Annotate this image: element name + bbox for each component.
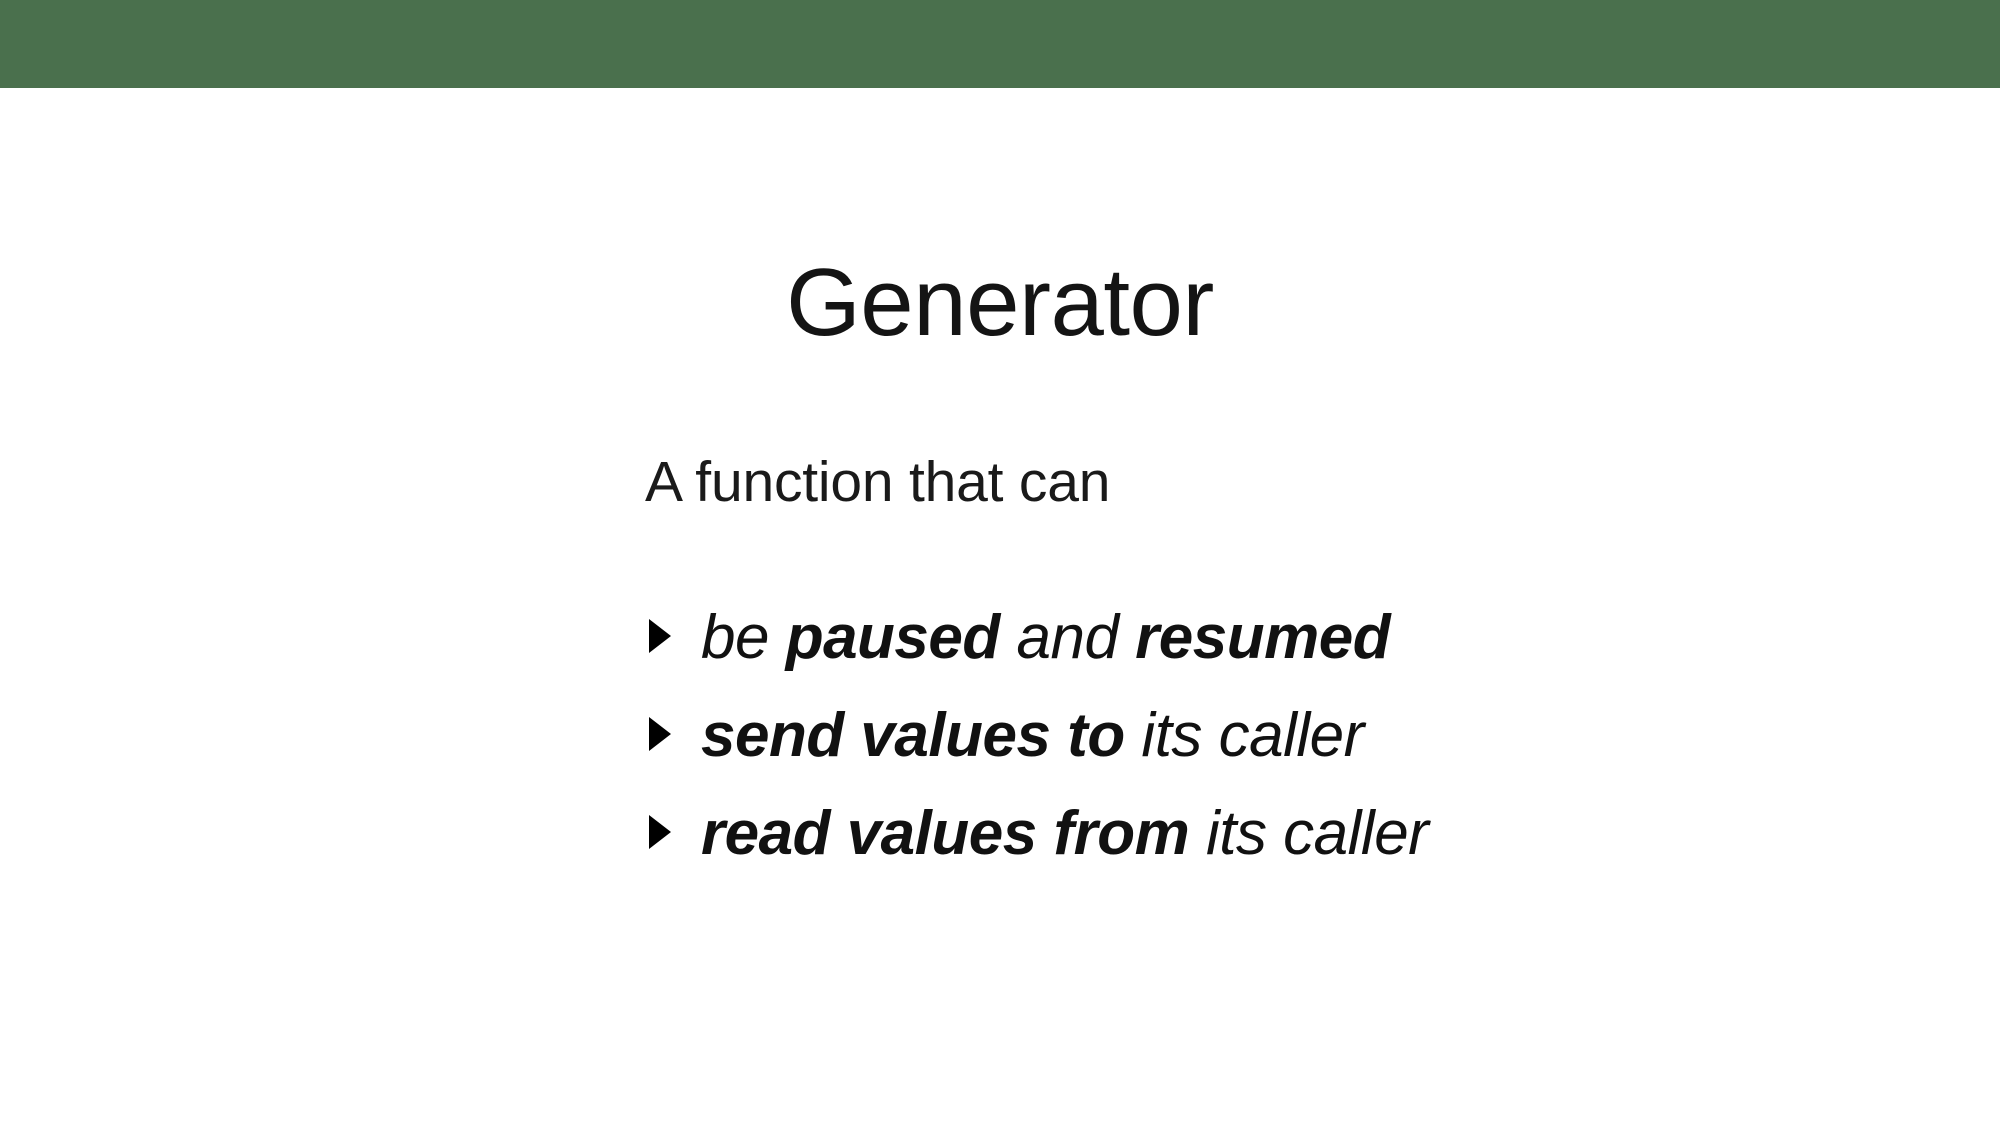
bullet-list: be paused and resumed send values to its… [649, 607, 1899, 901]
list-item-segment: its caller [1125, 701, 1364, 770]
presentation-slide: Generator A function that can be paused … [0, 0, 2000, 1125]
triangle-right-icon [649, 715, 701, 759]
lead-line: A function that can [645, 450, 1895, 516]
list-item: read values from its caller [649, 803, 1899, 901]
triangle-right-icon [649, 813, 701, 857]
list-item-segment-emphasis: resumed [1135, 603, 1390, 672]
list-item-segment-emphasis: send values to [701, 701, 1125, 770]
list-item-segment: and [1000, 603, 1135, 672]
page-title: Generator [0, 250, 2000, 356]
slide-body: A function that can be paused and resume… [645, 450, 1895, 516]
list-item-label: read values from its caller [701, 803, 1428, 865]
triangle-right-icon [649, 617, 701, 661]
slide-top-band [0, 0, 2000, 88]
list-item-label: send values to its caller [701, 705, 1364, 767]
list-item-segment: its caller [1189, 799, 1428, 868]
list-item: be paused and resumed [649, 607, 1899, 705]
list-item-segment-emphasis: read values from [701, 799, 1189, 868]
list-item-segment: be [701, 603, 786, 672]
list-item-segment-emphasis: paused [786, 603, 1000, 672]
list-item-label: be paused and resumed [701, 607, 1390, 669]
list-item: send values to its caller [649, 705, 1899, 803]
